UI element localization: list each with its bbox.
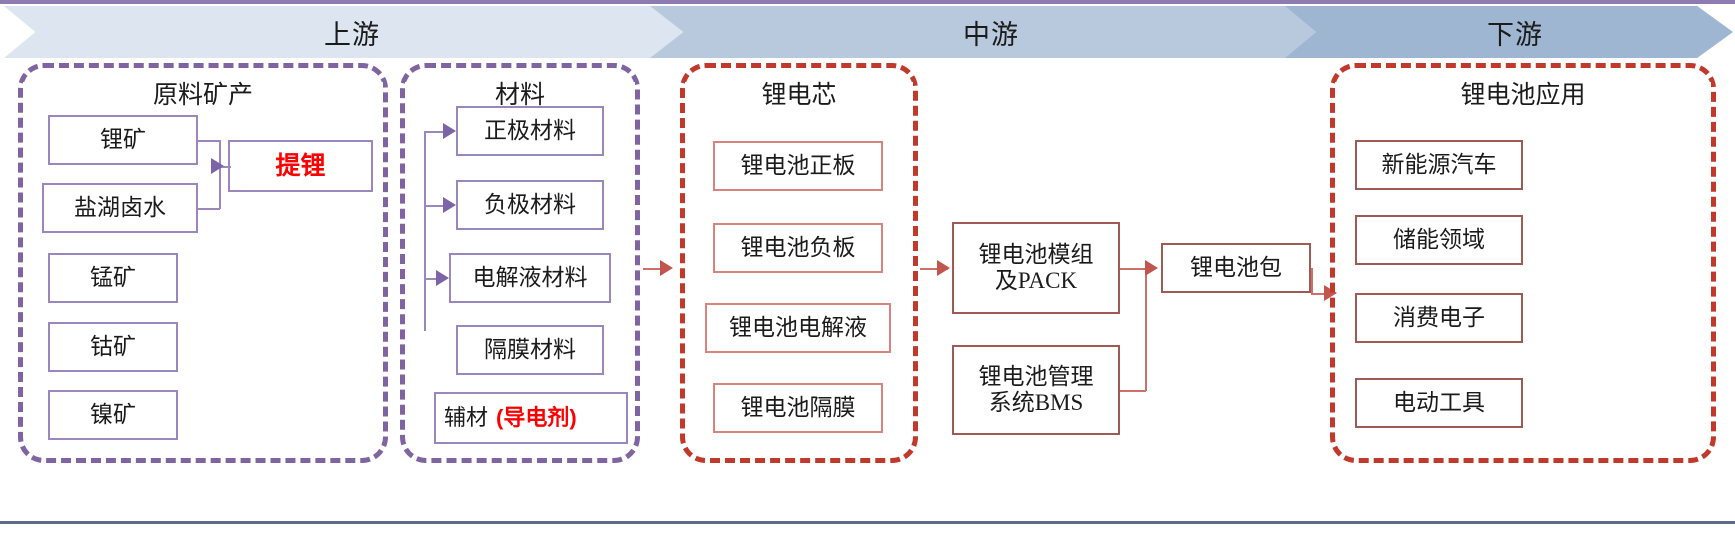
node-cobalt-ore-label: 钴矿 xyxy=(90,334,136,360)
node-manganese-ore-label: 锰矿 xyxy=(90,265,136,291)
node-module-pack[interactable]: 锂电池模组 及PACK xyxy=(952,222,1120,314)
node-bms-line1: 锂电池管理 xyxy=(979,364,1094,390)
node-consumer-electronics-label: 消费电子 xyxy=(1393,305,1485,331)
node-auxiliary-material-label: 辅材 xyxy=(444,405,488,430)
connector-pack-merge-vertical xyxy=(1145,268,1147,391)
arrow-to-cathode-material xyxy=(443,123,456,139)
banner-upstream: 上游 xyxy=(4,6,688,58)
node-power-tools-label: 电动工具 xyxy=(1393,390,1485,416)
connector-brine-out xyxy=(198,208,220,210)
node-separator-material[interactable]: 隔膜材料 xyxy=(456,325,604,375)
node-new-energy-vehicle-label: 新能源汽车 xyxy=(1382,152,1497,178)
node-lithium-ore-label: 锂矿 xyxy=(100,127,146,153)
group-cell-title: 锂电芯 xyxy=(685,82,913,108)
arrow-cell-to-module xyxy=(937,260,950,276)
node-nickel-ore[interactable]: 镍矿 xyxy=(48,390,178,440)
connector-lithium-ore-out xyxy=(198,140,220,142)
arrow-to-anode-material xyxy=(443,197,456,213)
banner-downstream: 下游 xyxy=(1285,6,1733,58)
node-cell-cathode-label: 锂电池正板 xyxy=(741,153,856,179)
node-cell-electrolyte-label: 锂电池电解液 xyxy=(729,315,867,341)
node-energy-storage-label: 储能领域 xyxy=(1393,227,1485,253)
top-divider-rule xyxy=(0,0,1735,4)
node-new-energy-vehicle[interactable]: 新能源汽车 xyxy=(1355,140,1523,190)
node-cell-cathode[interactable]: 锂电池正板 xyxy=(713,141,883,191)
node-cell-separator[interactable]: 锂电池隔膜 xyxy=(713,383,883,433)
node-consumer-electronics[interactable]: 消费电子 xyxy=(1355,293,1523,343)
node-auxiliary-material-suffix: (导电剂) xyxy=(496,405,577,430)
node-separator-material-label: 隔膜材料 xyxy=(484,337,576,363)
arrow-to-electrolyte-material xyxy=(436,270,449,286)
node-anode-material-label: 负极材料 xyxy=(484,192,576,218)
node-manganese-ore[interactable]: 锰矿 xyxy=(48,253,178,303)
node-module-pack-line2: 及PACK xyxy=(995,268,1077,294)
banner-upstream-label: 上游 xyxy=(324,13,380,52)
node-lithium-extraction-label: 提锂 xyxy=(275,152,325,181)
node-electrolyte-material[interactable]: 电解液材料 xyxy=(449,253,611,303)
connector-merge-vertical xyxy=(219,140,221,209)
banner-midstream: 中游 xyxy=(650,6,1320,58)
node-cell-anode-label: 锂电池负板 xyxy=(741,235,856,261)
node-cell-anode[interactable]: 锂电池负板 xyxy=(713,223,883,273)
node-lithium-ore[interactable]: 锂矿 xyxy=(48,115,198,165)
node-bms[interactable]: 锂电池管理 系统BMS xyxy=(952,345,1120,435)
node-cathode-material-label: 正极材料 xyxy=(484,118,576,144)
arrow-to-battery-pack xyxy=(1145,260,1158,276)
banner-midstream-label: 中游 xyxy=(963,13,1019,52)
node-battery-pack-label: 锂电池包 xyxy=(1190,255,1282,281)
node-salt-lake-brine[interactable]: 盐湖卤水 xyxy=(42,183,198,233)
group-raw-materials-title: 原料矿产 xyxy=(23,82,383,108)
connector-module-out xyxy=(1120,268,1146,270)
node-cell-separator-label: 锂电池隔膜 xyxy=(741,395,856,421)
node-module-pack-line1: 锂电池模组 xyxy=(979,242,1094,268)
node-nickel-ore-label: 镍矿 xyxy=(90,402,136,428)
node-power-tools[interactable]: 电动工具 xyxy=(1355,378,1523,428)
connector-bms-out xyxy=(1120,390,1146,392)
connector-pack-drop xyxy=(1311,268,1313,294)
node-cathode-material[interactable]: 正极材料 xyxy=(456,106,604,156)
arrow-materials-to-cell xyxy=(660,260,673,276)
node-cell-electrolyte[interactable]: 锂电池电解液 xyxy=(705,303,891,353)
banner-downstream-label: 下游 xyxy=(1487,13,1543,52)
bottom-divider-rule xyxy=(0,521,1735,524)
node-battery-pack[interactable]: 锂电池包 xyxy=(1161,243,1311,293)
lithium-battery-industry-chain-diagram: 上游 中游 下游 原料矿产 锂矿 盐湖卤水 锰矿 钴矿 镍矿 提锂 材料 正极材… xyxy=(0,0,1735,533)
node-salt-lake-brine-label: 盐湖卤水 xyxy=(74,195,166,221)
node-electrolyte-material-label: 电解液材料 xyxy=(473,265,588,291)
arrow-to-lithium-extraction xyxy=(211,158,224,174)
group-application-title: 锂电池应用 xyxy=(1335,82,1711,108)
node-anode-material[interactable]: 负极材料 xyxy=(456,180,604,230)
node-cobalt-ore[interactable]: 钴矿 xyxy=(48,322,178,372)
node-auxiliary-material[interactable]: 辅材 (导电剂) xyxy=(434,392,628,444)
group-materials-title: 材料 xyxy=(405,82,635,108)
materials-spine xyxy=(424,131,426,331)
node-lithium-extraction[interactable]: 提锂 xyxy=(228,140,373,192)
node-bms-line2: 系统BMS xyxy=(989,390,1084,416)
node-energy-storage[interactable]: 储能领域 xyxy=(1355,215,1523,265)
